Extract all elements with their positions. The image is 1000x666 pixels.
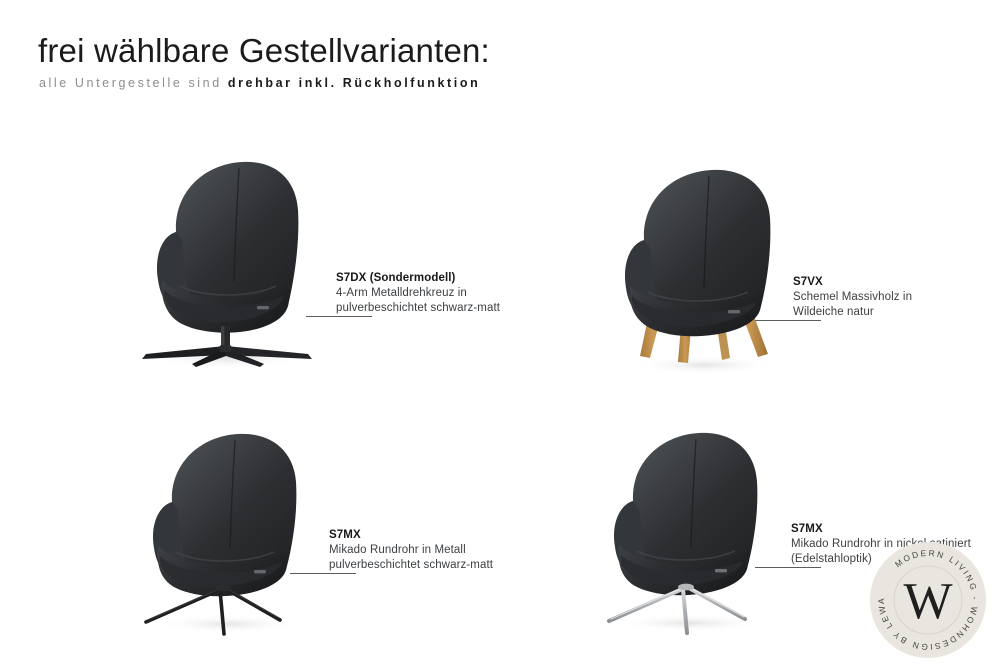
product-label-s7dx: S7DX (Sondermodell) 4-Arm Metalldrehkreu… [336,271,500,316]
leader-line-s7mx-black [290,573,356,574]
product-code-s7dx: S7DX (Sondermodell) [336,271,500,286]
product-cell-s7dx: S7DX (Sondermodell) 4-Arm Metalldrehkreu… [118,140,348,370]
product-desc-line2-s7vx: Wildeiche natur [793,305,912,320]
logo-badge-monogram: W [903,573,952,630]
leader-line-s7vx [755,320,821,321]
page-subtitle-light: alle Untergestelle sind [39,76,228,90]
product-desc-line1-s7vx: Schemel Massivholz in [793,290,912,305]
chair-s7mx-mikado-nickel-base-icon [575,415,815,645]
page-title: frei wählbare Gestellvarianten: [38,32,490,70]
chair-s7mx-mikado-black-base-icon [120,418,350,645]
product-code-s7vx: S7VX [793,275,912,290]
product-cell-s7vx: S7VX Schemel Massivholz in Wildeiche nat… [592,150,822,380]
product-code-s7mx-nickel: S7MX [791,522,971,537]
page-subtitle: alle Untergestelle sind drehbar inkl. Rü… [39,76,480,90]
product-label-s7mx-black: S7MX Mikado Rundrohr in Metall pulverbes… [329,528,493,573]
chair-s7vx-solid-wood-legs-icon [592,150,822,385]
leader-line-s7dx [306,316,372,317]
product-label-s7vx: S7VX Schemel Massivholz in Wildeiche nat… [793,275,912,320]
product-code-s7mx-black: S7MX [329,528,493,543]
page-subtitle-bold: drehbar inkl. Rückholfunktion [228,76,481,90]
chair-s7dx-four-arm-star-base-icon [118,140,348,380]
product-cell-s7mx-black: S7MX Mikado Rundrohr in Metall pulverbes… [120,418,350,638]
product-catalog-page: frei wählbare Gestellvarianten: alle Unt… [0,0,1000,666]
product-cell-s7mx-nickel: S7MX Mikado Rundrohr in nickel satiniert… [575,415,815,640]
product-desc-line1-s7mx-black: Mikado Rundrohr in Metall [329,543,493,558]
logo-badge-lewandowski: MODERN LIVING - WOHNDESIGN BY LEWANDOWSK… [868,540,988,660]
product-desc-line1-s7dx: 4-Arm Metalldrehkreuz in [336,286,500,301]
leader-line-s7mx-nickel [755,567,821,568]
product-desc-line2-s7dx: pulverbeschichtet schwarz-matt [336,301,500,316]
product-desc-line2-s7mx-black: pulverbeschichtet schwarz-matt [329,558,493,573]
